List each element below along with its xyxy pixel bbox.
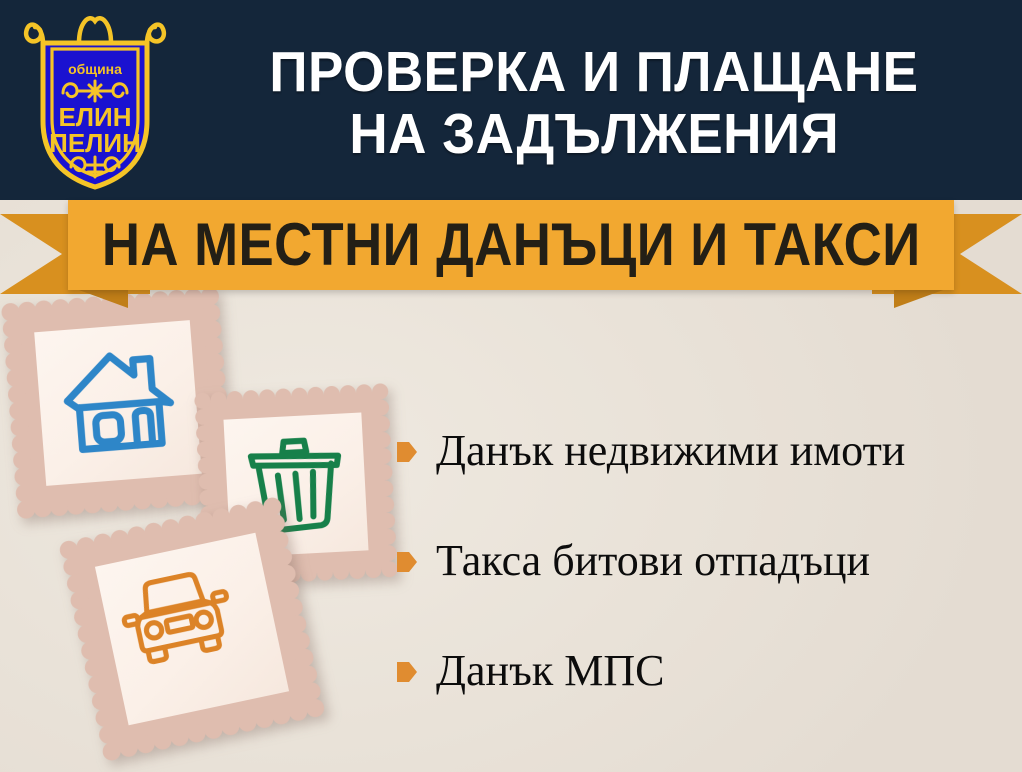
municipality-logo: община ЕЛИН ПЕЛИН xyxy=(0,0,190,200)
house-icon xyxy=(58,342,180,463)
pentagon-arrow-bullet-icon xyxy=(396,550,418,574)
list-item-label: Такса битови отпадъци xyxy=(436,536,870,586)
poster-root: община ЕЛИН ПЕЛИН ПРОВЕРКА И ПЛАЩАНЕ НА … xyxy=(0,0,1022,772)
list-item[interactable]: Данък недвижими имоти xyxy=(396,420,1016,482)
subtitle-ribbon: НА МЕСТНИ ДАНЪЦИ И ТАКСИ xyxy=(0,200,1022,308)
logo-word-obshtina: община xyxy=(68,61,122,77)
header-title-line-1: ПРОВЕРКА И ПЛАЩАНЕ xyxy=(269,40,918,104)
header-bar: община ЕЛИН ПЕЛИН ПРОВЕРКА И ПЛАЩАНЕ НА … xyxy=(0,0,1022,200)
ribbon-face: НА МЕСТНИ ДАНЪЦИ И ТАКСИ xyxy=(68,200,954,290)
tax-type-list: Данък недвижими имоти Такса битови отпад… xyxy=(396,420,1016,750)
elin-pelin-crest-icon: община ЕЛИН ПЕЛИН xyxy=(19,9,171,195)
header-title-block: ПРОВЕРКА И ПЛАЩАНЕ НА ЗАДЪЛЖЕНИЯ xyxy=(190,0,1022,200)
stamp-card-group xyxy=(0,300,420,772)
ribbon-label: НА МЕСТНИ ДАНЪЦИ И ТАКСИ xyxy=(102,214,921,276)
list-item[interactable]: Такса битови отпадъци xyxy=(396,530,1016,592)
header-title-line-2: НА ЗАДЪЛЖЕНИЯ xyxy=(349,102,839,166)
logo-word-pelin: ПЕЛИН xyxy=(49,128,141,158)
list-item-label: Данък недвижими имоти xyxy=(436,426,905,476)
pentagon-arrow-bullet-icon xyxy=(396,660,418,684)
stamp-card-car xyxy=(69,507,315,752)
list-item[interactable]: Данък МПС xyxy=(396,640,1016,702)
stamp-card-house xyxy=(11,296,226,509)
list-item-label: Данък МПС xyxy=(436,646,664,696)
pentagon-arrow-bullet-icon xyxy=(396,440,418,464)
